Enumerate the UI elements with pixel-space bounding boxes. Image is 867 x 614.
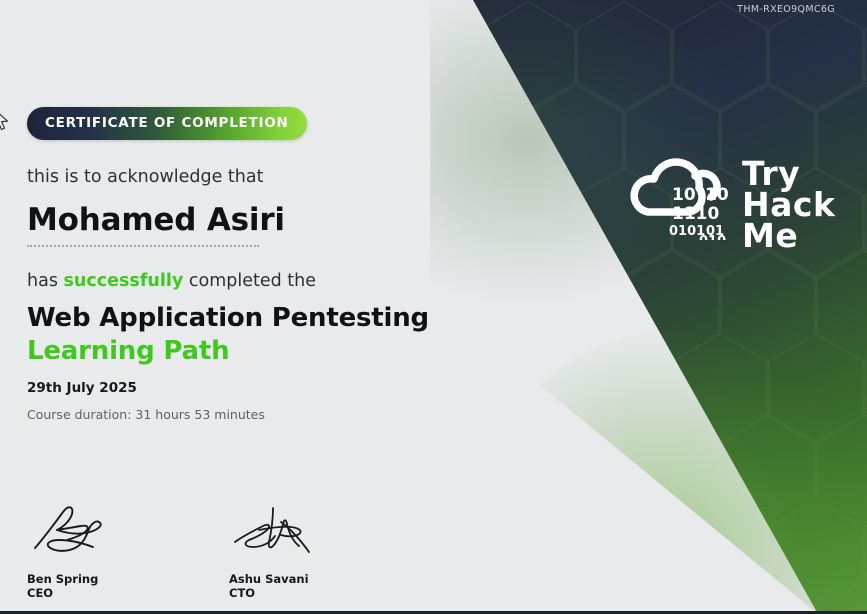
signature-row: Ben Spring CEO Ashu Savani CTO — [27, 500, 339, 600]
signature-mark-ashu-savani — [229, 500, 329, 560]
tryhackme-logo: 10 10 1110 0101 01 01 010 01 Try Hack Me — [617, 140, 827, 260]
completion-suffix: completed the — [183, 271, 316, 291]
status-badge: CERTIFICATE OF COMPLETION — [27, 107, 307, 140]
certificate-id: THM-RXEO9QMC6G — [737, 4, 835, 15]
svg-text:10: 10 — [705, 185, 729, 205]
signatory-name: Ashu Savani — [229, 573, 339, 587]
svg-text:10: 10 — [672, 185, 696, 205]
svg-text:010: 010 — [699, 234, 726, 240]
certificate-content: CERTIFICATE OF COMPLETION this is to ack… — [27, 0, 497, 422]
recipient-name: Mohamed Asiri — [27, 202, 497, 238]
signatory-name: Ben Spring — [27, 573, 137, 587]
issue-date: 29th July 2025 — [27, 380, 497, 396]
signatory-role: CTO — [229, 587, 339, 601]
completion-emphasis: successfully — [64, 271, 184, 291]
certificate-card: THM-RXEO9QMC6G 10 10 1110 0101 01 01 010… — [0, 0, 867, 614]
cloud-icon: 10 10 1110 0101 01 01 010 01 — [617, 140, 735, 240]
name-underline-divider — [27, 245, 259, 247]
logo-wordmark: Try Hack Me — [742, 158, 835, 251]
completion-prefix: has — [27, 271, 64, 291]
signatory-role: CEO — [27, 587, 137, 601]
acknowledgement-text: this is to acknowledge that — [27, 167, 497, 187]
mouse-cursor-icon — [0, 108, 10, 132]
course-title-line-2: Learning Path — [27, 336, 497, 366]
svg-text:1110: 1110 — [672, 204, 719, 224]
course-duration: Course duration: 31 hours 53 minutes — [27, 407, 497, 422]
logo-wordmark-line-3: Me — [742, 220, 835, 251]
completion-statement: has successfully completed the — [27, 271, 497, 291]
course-title-line-1: Web Application Pentesting — [27, 303, 497, 333]
signature-block-cto: Ashu Savani CTO — [229, 500, 339, 600]
signature-block-ceo: Ben Spring CEO — [27, 500, 137, 600]
signature-mark-ben-spring — [27, 500, 127, 560]
